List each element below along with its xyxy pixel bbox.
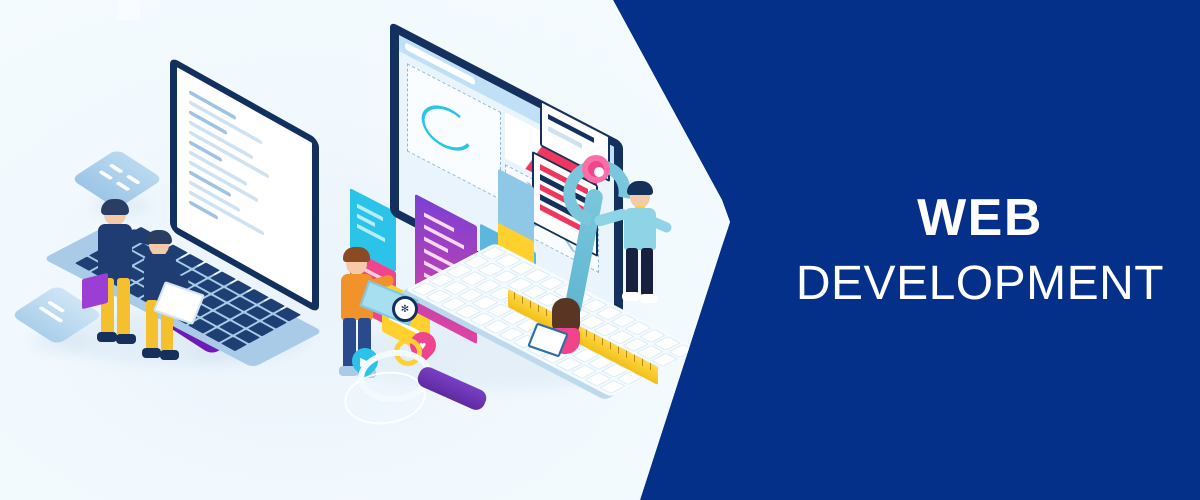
torso (624, 208, 656, 250)
developer-pink-laptop (542, 298, 590, 368)
shoe-right (640, 294, 658, 303)
hair (627, 181, 653, 195)
hair (101, 199, 129, 215)
hair (552, 298, 580, 332)
monitor-scene: ▶ ♥ ✻ (330, 60, 690, 420)
headline-block: WEB DEVELOPMENT (760, 0, 1200, 500)
headline-line-2: DEVELOPMENT (796, 260, 1164, 308)
shoe-left (97, 332, 117, 342)
hair (146, 230, 172, 244)
shoe-left (622, 292, 640, 301)
web-development-banner: ▶ ♥ ✻ WEB DEVELOPMENT (0, 0, 1200, 500)
gear-icon (582, 155, 610, 183)
shoe-left (142, 348, 161, 358)
leg-left (626, 248, 638, 296)
shoe-right (160, 350, 179, 360)
code-window (177, 67, 312, 289)
leg-right (641, 248, 653, 296)
torso (98, 224, 132, 280)
illustration-panel: ▶ ♥ ✻ (0, 0, 760, 500)
leg-right (117, 278, 130, 336)
laptop-scene (30, 80, 330, 380)
developer-with-tablet (133, 230, 189, 370)
headline-line-1: WEB (917, 192, 1043, 244)
developer-wrench (616, 178, 668, 308)
settings-icon: ✻ (392, 296, 418, 322)
watermark-artifact (118, 0, 140, 20)
hair (343, 247, 370, 262)
